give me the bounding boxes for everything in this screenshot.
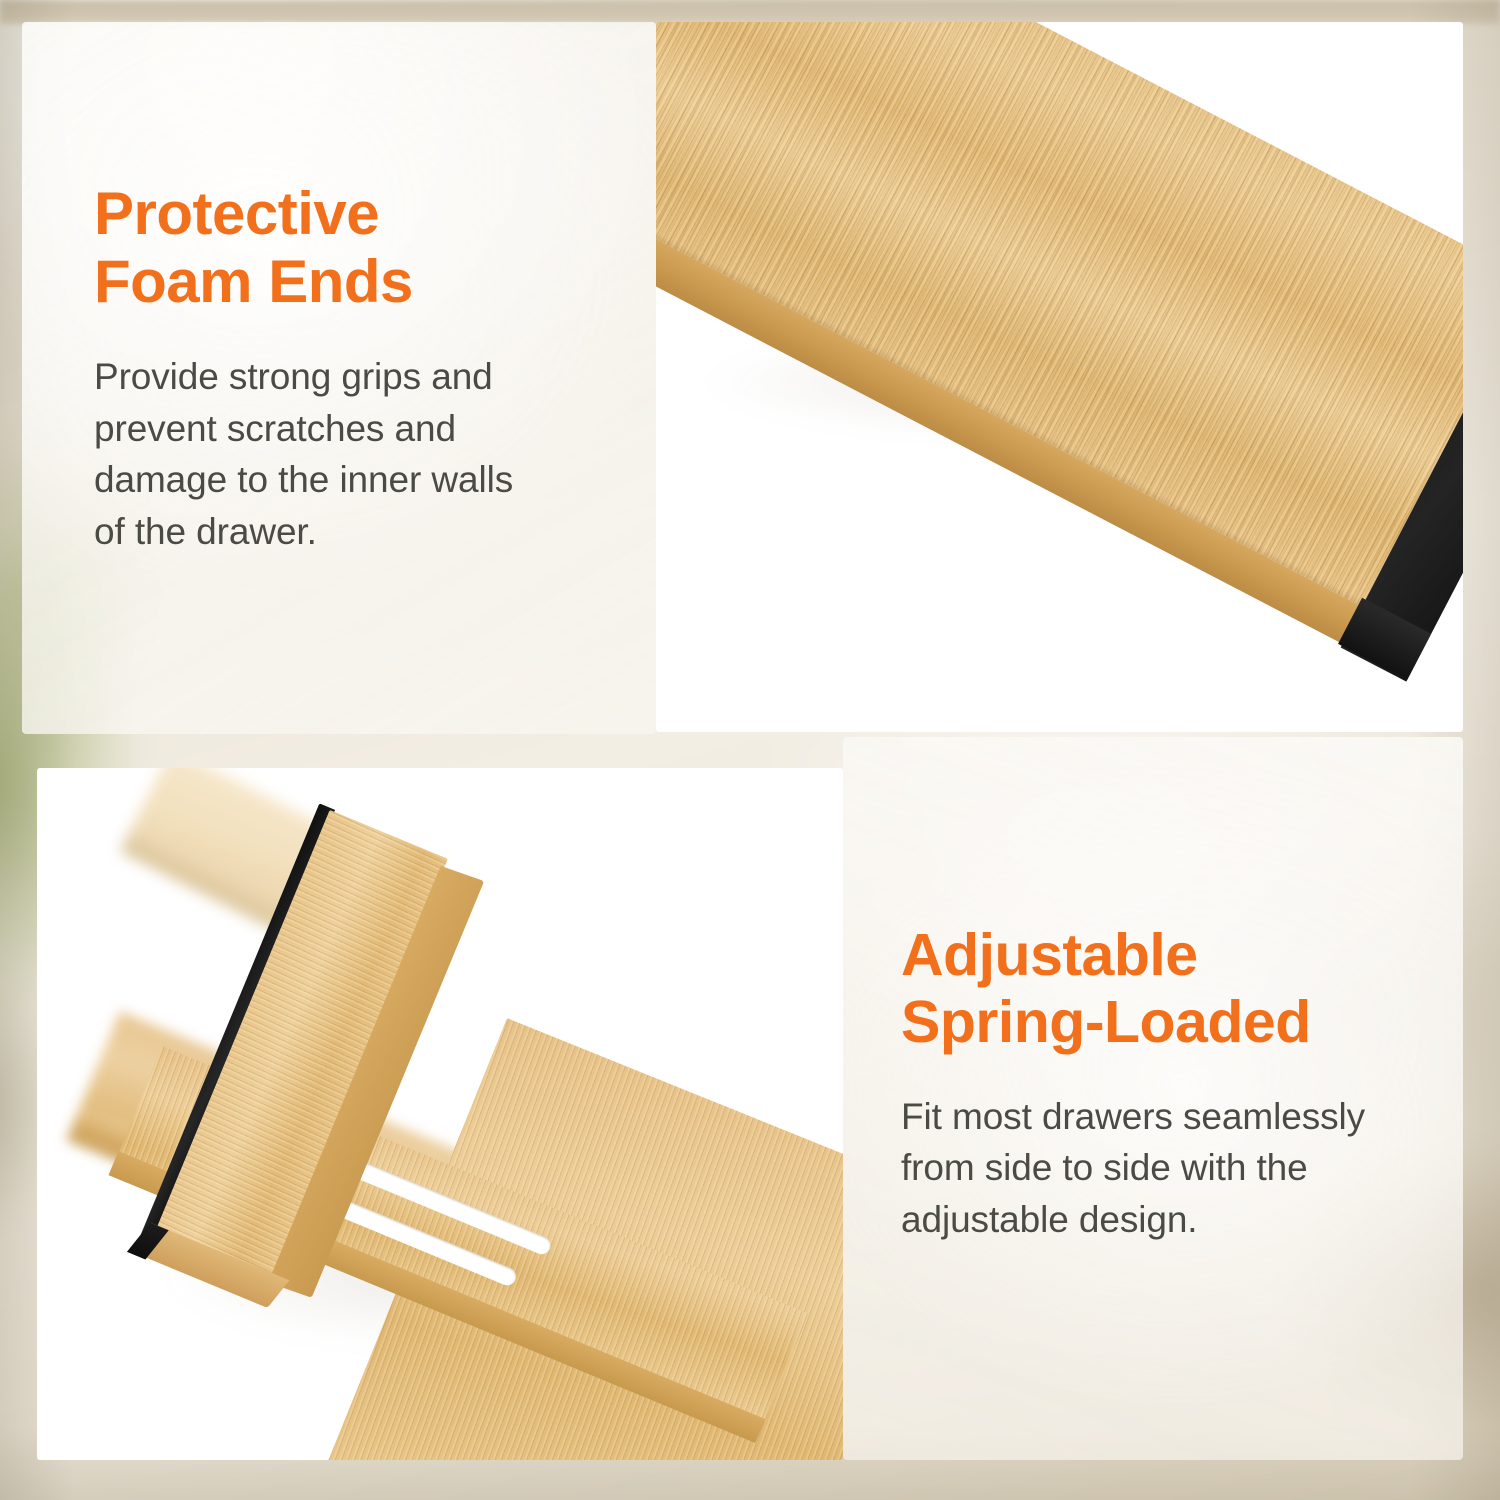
feature-card-adjustable-spring-loaded: Adjustable Spring-Loaded Fit most drawer… <box>843 737 1463 1460</box>
feature-text-block-1: Protective Foam Ends Provide strong grip… <box>94 180 634 558</box>
bamboo-board <box>656 22 1463 729</box>
infographic-canvas: Protective Foam Ends Provide strong grip… <box>0 0 1500 1500</box>
feature-headline-2: Adjustable Spring-Loaded <box>901 922 1446 1057</box>
feature-photo-protective-foam-ends <box>656 22 1463 732</box>
feature-body-1: Provide strong grips and prevent scratch… <box>94 351 634 558</box>
feature-text-block-2: Adjustable Spring-Loaded Fit most drawer… <box>901 922 1446 1246</box>
feature-card-protective-foam-ends: Protective Foam Ends Provide strong grip… <box>22 22 656 734</box>
board-photo-stage <box>656 22 1463 732</box>
feature-photo-adjustable-spring-loaded <box>37 768 843 1460</box>
divider-photo-stage <box>37 768 843 1460</box>
feature-headline-1: Protective Foam Ends <box>94 180 634 317</box>
feature-body-2: Fit most drawers seamlessly from side to… <box>901 1091 1446 1246</box>
